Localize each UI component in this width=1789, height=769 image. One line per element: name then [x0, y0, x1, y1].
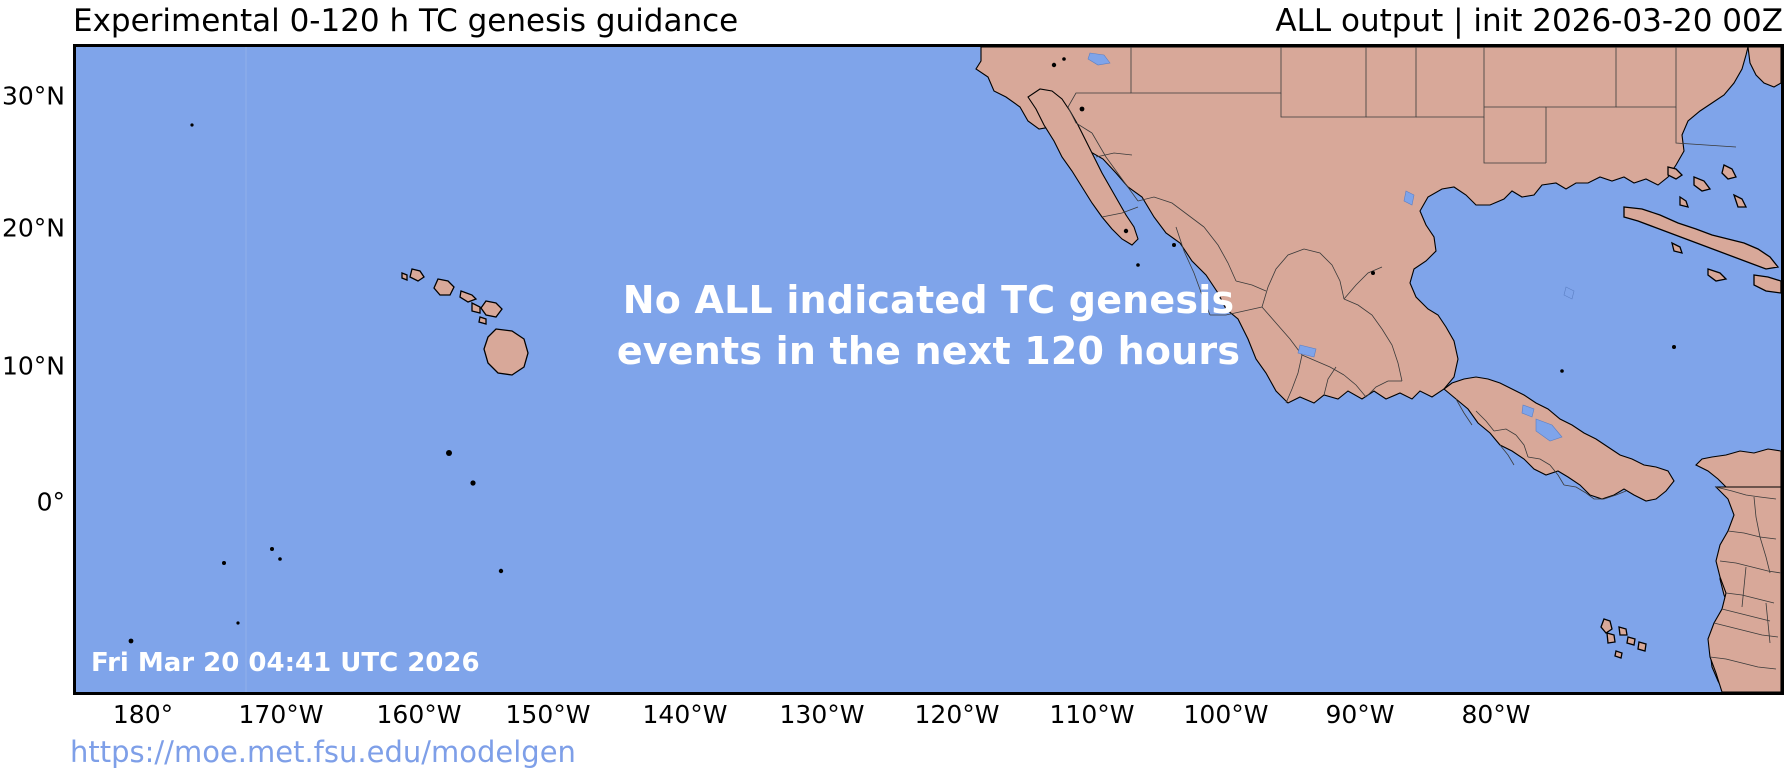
ytick-30n: 30°N	[2, 82, 65, 111]
xtick-120w: 120°W	[915, 700, 1000, 729]
ytick-0: 0°	[37, 488, 65, 517]
xtick-100w: 100°W	[1184, 700, 1269, 729]
figure-title: Experimental 0-120 h TC genesis guidance	[73, 0, 738, 42]
ytick-20n: 20°N	[2, 214, 65, 243]
tc-genesis-guidance-figure: Experimental 0-120 h TC genesis guidance…	[0, 0, 1789, 768]
ytick-10n: 10°N	[2, 352, 65, 381]
no-genesis-message-line2: events in the next 120 hours	[76, 326, 1781, 377]
xtick-180: 180°	[113, 700, 173, 729]
figure-subtitle-init-time: ALL output | init 2026-03-20 00Z	[1275, 0, 1783, 42]
xtick-170w: 170°W	[239, 700, 324, 729]
xtick-90w: 90°W	[1325, 700, 1394, 729]
source-url-link[interactable]: https://moe.met.fsu.edu/modelgen	[70, 735, 576, 769]
xtick-110w: 110°W	[1050, 700, 1135, 729]
valid-timestamp: Fri Mar 20 04:41 UTC 2026	[91, 648, 480, 678]
xtick-150w: 150°W	[506, 700, 591, 729]
xtick-80w: 80°W	[1461, 700, 1530, 729]
xtick-160w: 160°W	[377, 700, 462, 729]
no-genesis-message-line1: No ALL indicated TC genesis	[76, 275, 1781, 326]
no-genesis-message: No ALL indicated TC genesis events in th…	[76, 275, 1781, 378]
xtick-140w: 140°W	[643, 700, 728, 729]
xtick-130w: 130°W	[780, 700, 865, 729]
map-panel[interactable]: No ALL indicated TC genesis events in th…	[73, 44, 1784, 695]
